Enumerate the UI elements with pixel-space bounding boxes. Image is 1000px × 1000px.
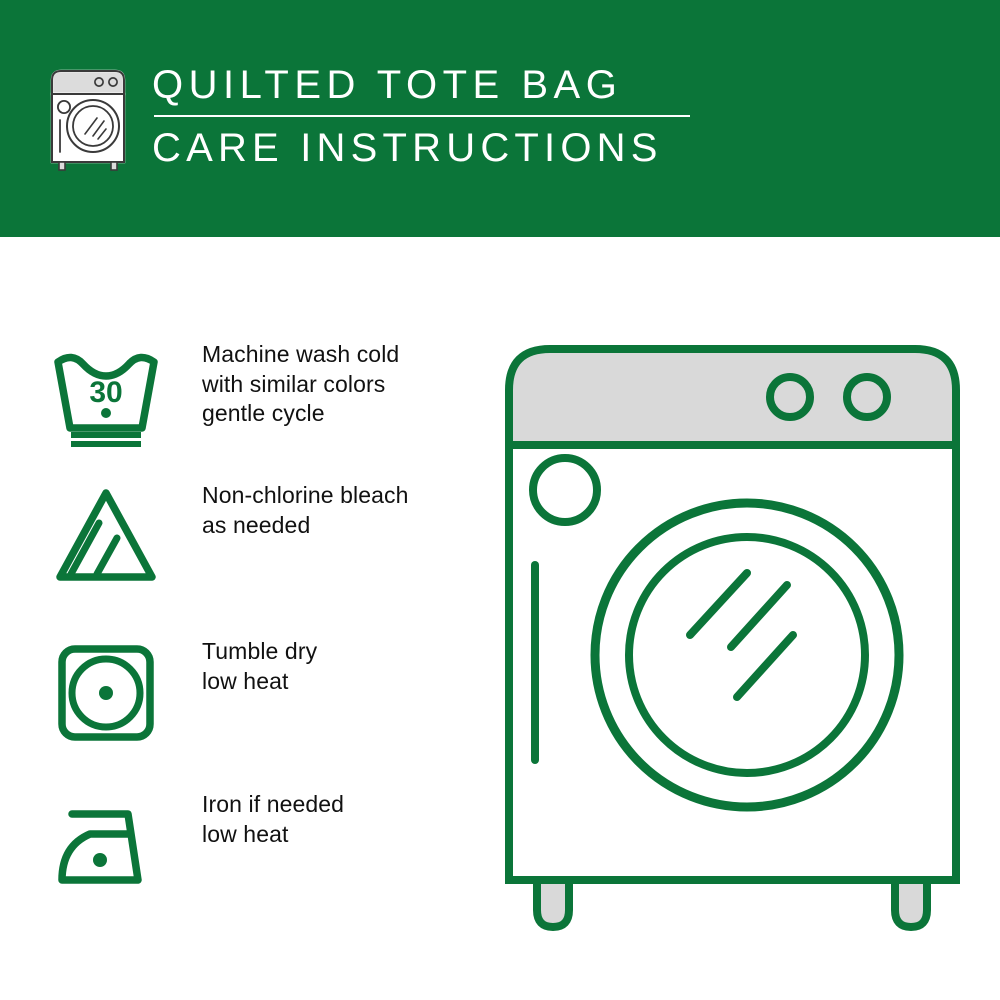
header-content: QUILTED TOTE BAG CARE INSTRUCTIONS [42,62,690,174]
care-row-tumble-dry: Tumble dry low heat [52,637,472,745]
care-instructions-infographic: QUILTED TOTE BAG CARE INSTRUCTIONS 30 Ma… [0,0,1000,1000]
header-band: QUILTED TOTE BAG CARE INSTRUCTIONS [0,0,1000,237]
header-title-block: QUILTED TOTE BAG CARE INSTRUCTIONS [152,62,690,171]
machine-foot-left [537,880,569,927]
page-subtitle: CARE INSTRUCTIONS [152,125,690,171]
wash-tub-30-icon: 30 [52,340,160,448]
washing-machine-illustration [495,335,970,935]
page-title: QUILTED TOTE BAG [152,62,690,108]
care-text-bleach: Non-chlorine bleach as needed [202,481,408,540]
wash-temp-value: 30 [89,376,122,409]
machine-body [509,445,956,880]
care-text-tumble-dry: Tumble dry low heat [202,637,317,696]
tumble-dry-icon [52,637,160,745]
machine-foot-right [895,880,927,927]
care-text-iron: Iron if needed low heat [202,790,344,849]
care-row-iron: Iron if needed low heat [52,790,472,898]
care-text-machine-wash: Machine wash cold with similar colors ge… [202,340,399,429]
care-row-bleach: Non-chlorine bleach as needed [52,481,472,589]
title-divider [154,115,690,117]
washing-machine-icon [42,66,134,174]
care-row-machine-wash: 30 Machine wash cold with similar colors… [52,340,472,448]
bleach-triangle-icon [52,481,160,589]
iron-icon [52,790,160,898]
